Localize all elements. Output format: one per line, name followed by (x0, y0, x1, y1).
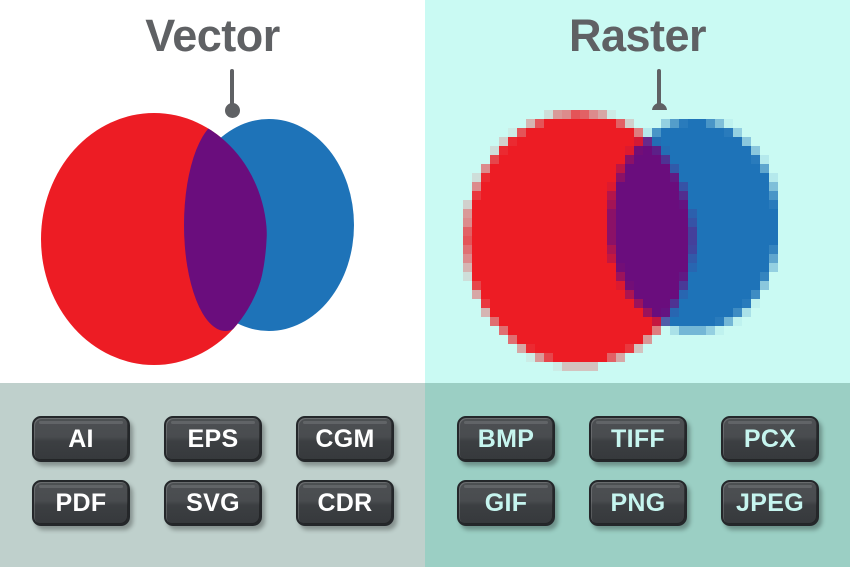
vector-overlap-shape (184, 119, 267, 331)
format-badge-ai[interactable]: AI (32, 416, 130, 462)
format-badge-svg[interactable]: SVG (164, 480, 262, 526)
format-badge-label: BMP (478, 427, 534, 452)
raster-formats-panel: BMPTIFFPCXGIFPNGJPEG (425, 383, 850, 567)
format-badge-cdr[interactable]: CDR (296, 480, 394, 526)
format-badge-tiff[interactable]: TIFF (589, 416, 687, 462)
vector-title: Vector (0, 13, 425, 58)
format-badge-pdf[interactable]: PDF (32, 480, 130, 526)
format-badge-pcx[interactable]: PCX (721, 416, 819, 462)
format-badge-label: PNG (610, 491, 665, 516)
format-badge-label: JPEG (736, 491, 804, 516)
format-badge-label: CDR (317, 491, 372, 516)
raster-pixel-canvas (463, 110, 813, 375)
vector-overlap-lens (184, 119, 267, 331)
vector-pointer-dot (225, 103, 240, 118)
format-badge-label: SVG (186, 491, 240, 516)
infographic-canvas: Vector Raster AIEPSCGMPDFSVGCDR BMPTIFFP… (0, 0, 850, 567)
raster-venn-diagram (463, 110, 813, 375)
format-badge-label: CGM (315, 427, 374, 452)
format-badge-label: GIF (485, 491, 528, 516)
vector-formats-panel: AIEPSCGMPDFSVGCDR (0, 383, 425, 567)
format-badge-label: PDF (56, 491, 107, 516)
vector-format-badge-grid: AIEPSCGMPDFSVGCDR (32, 416, 394, 526)
format-badge-bmp[interactable]: BMP (457, 416, 555, 462)
raster-format-badge-grid: BMPTIFFPCXGIFPNGJPEG (457, 416, 819, 526)
raster-panel: Raster (425, 0, 850, 383)
format-badge-eps[interactable]: EPS (164, 416, 262, 462)
format-badge-label: AI (68, 427, 94, 452)
format-badge-label: EPS (188, 427, 239, 452)
format-badge-jpeg[interactable]: JPEG (721, 480, 819, 526)
format-badge-gif[interactable]: GIF (457, 480, 555, 526)
raster-title: Raster (425, 13, 850, 58)
format-badge-label: PCX (744, 427, 796, 452)
format-badge-png[interactable]: PNG (589, 480, 687, 526)
format-badge-cgm[interactable]: CGM (296, 416, 394, 462)
format-badge-label: TIFF (611, 427, 665, 452)
vector-panel: Vector (0, 0, 425, 383)
